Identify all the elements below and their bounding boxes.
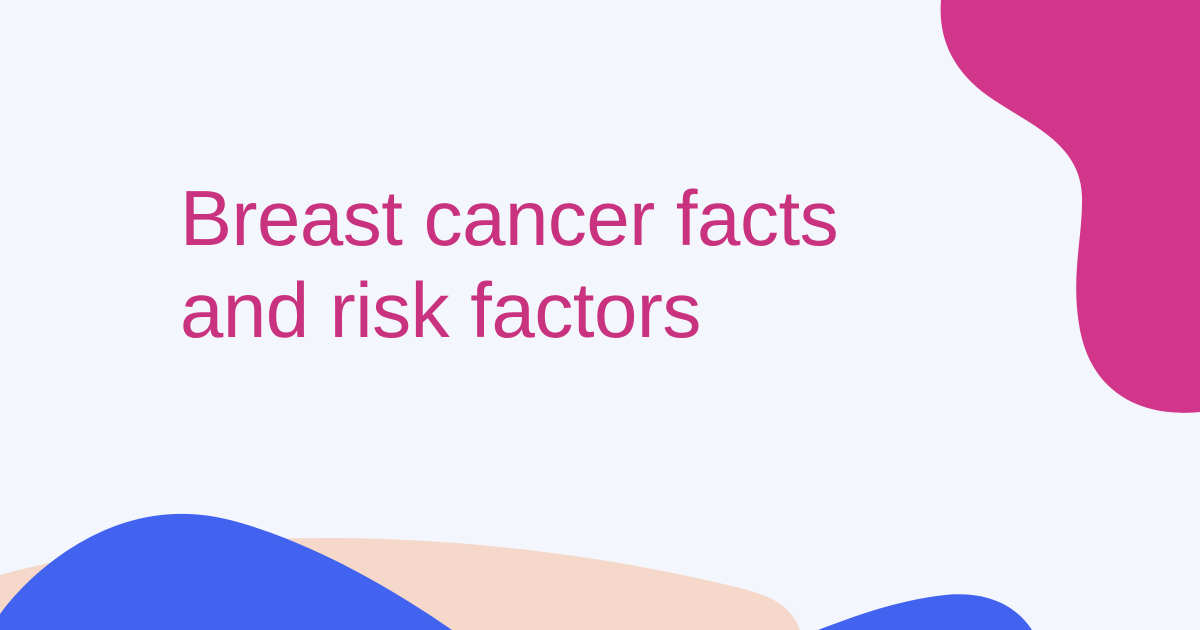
banner-card: Breast cancer facts and risk factors xyxy=(0,0,1200,630)
banner-content: Breast cancer facts and risk factors xyxy=(0,0,1200,630)
page-title: Breast cancer facts and risk factors xyxy=(180,172,880,356)
